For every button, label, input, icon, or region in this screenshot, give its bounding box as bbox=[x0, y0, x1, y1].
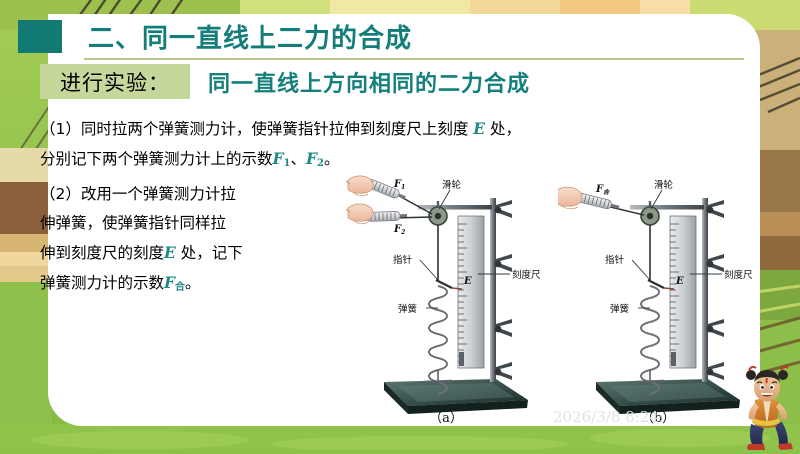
step2-text-e: 弹簧测力计的示数 bbox=[40, 274, 164, 292]
hand-icon-1 bbox=[346, 176, 373, 196]
slide-heading-row: 二、同一直线上二力的合成 bbox=[48, 22, 760, 62]
scale-ruler bbox=[670, 216, 696, 368]
figure-b-label-pointer: 指针 bbox=[605, 254, 625, 266]
figure-b-label-ruler: 刻度尺 bbox=[724, 269, 753, 281]
nezha-character-illustration bbox=[737, 366, 799, 450]
step2-text-b: 伸弹簧，使弹簧指针同样拉 bbox=[40, 214, 226, 232]
experiment-figures: F1 F2 滑轮 指针 弹簧 刻度尺 E （a） bbox=[346, 174, 766, 424]
content-card: 二、同一直线上二力的合成 进行实验： 同一直线上方向相同的二力合成 （1）同时拉… bbox=[48, 14, 760, 426]
pulley bbox=[641, 201, 659, 225]
figure-b-label-spring: 弹簧 bbox=[610, 303, 630, 315]
figure-a-label-ruler: 刻度尺 bbox=[512, 269, 541, 281]
step1-text-c: 分别记下两个弹簧测力计上的示数 bbox=[40, 150, 273, 168]
stand-rod bbox=[702, 198, 708, 382]
scale-ruler bbox=[458, 216, 484, 368]
step2-text-c: 伸到刻度尺的刻度 bbox=[40, 244, 164, 262]
step1-text-a: （1）同时拉两个弹簧测力计，使弹簧指针拉伸到刻度尺上刻度 bbox=[40, 120, 473, 138]
figure-a-label-pulley: 滑轮 bbox=[442, 179, 462, 191]
step2-symbol-F-sub: 合 bbox=[175, 282, 185, 293]
figure-a-caption: （a） bbox=[346, 407, 546, 426]
stand-arm bbox=[630, 205, 704, 210]
figure-a-label-e: E bbox=[463, 276, 472, 287]
experiment-subtitle: 同一直线上方向相同的二力合成 bbox=[208, 66, 530, 98]
figure-a: F1 F2 滑轮 指针 弹簧 刻度尺 E （a） bbox=[346, 174, 546, 424]
step1-symbol-F2: F bbox=[306, 149, 317, 168]
figure-b-label-f-total: F合 bbox=[595, 184, 610, 196]
step1-symbol-E: E bbox=[473, 119, 485, 138]
subheading-row: 进行实验： 同一直线上方向相同的二力合成 bbox=[48, 64, 760, 102]
step2-symbol-E: E bbox=[164, 243, 176, 262]
figure-b-label-pulley: 滑轮 bbox=[654, 179, 674, 191]
step2-text-f: 。 bbox=[185, 274, 201, 292]
figure-b: F合 滑轮 指针 弹簧 刻度尺 E （b） bbox=[558, 174, 758, 424]
figure-a-label-pointer: 指针 bbox=[393, 254, 413, 266]
stand-rod bbox=[490, 198, 496, 382]
step2-symbol-F: F bbox=[164, 273, 175, 292]
hand-icon bbox=[558, 187, 582, 209]
step1-text-b: 处， bbox=[485, 120, 521, 138]
figure-a-label-spring: 弹簧 bbox=[398, 303, 418, 315]
experiment-label-box: 进行实验： bbox=[40, 64, 190, 99]
stand-arm bbox=[418, 205, 492, 210]
step2-text-d: 处，记下 bbox=[176, 244, 243, 262]
step1-text-e: 。 bbox=[324, 150, 340, 168]
timestamp-watermark: 2026/3/8 8:24: bbox=[553, 408, 664, 426]
step1-symbol-F2-sub: 2 bbox=[317, 158, 324, 169]
step1-text-d: 、 bbox=[291, 150, 307, 168]
rod-clamps bbox=[495, 200, 512, 380]
page-title: 二、同一直线上二力的合成 bbox=[88, 18, 412, 55]
heading-divider bbox=[84, 58, 744, 60]
step1-symbol-F1-sub: 1 bbox=[284, 158, 291, 169]
figure-b-label-e: E bbox=[675, 276, 684, 287]
step1-symbol-F1: F bbox=[273, 149, 284, 168]
step-one-paragraph: （1）同时拉两个弹簧测力计，使弹簧指针拉伸到刻度尺上刻度 E 处， 分别记下两个… bbox=[40, 114, 740, 178]
heading-square-bullet bbox=[18, 20, 62, 53]
step2-text-a: （2）改用一个弹簧测力计拉 bbox=[40, 185, 236, 203]
pulley bbox=[429, 201, 447, 225]
spring bbox=[424, 286, 452, 394]
step-two-paragraph: （2）改用一个弹簧测力计拉 伸弹簧，使弹簧指针同样拉 伸到刻度尺的刻度E 处，记… bbox=[40, 180, 340, 302]
spring bbox=[636, 286, 664, 394]
rod-clamps bbox=[707, 200, 724, 380]
figure-a-label-f1: F1 bbox=[393, 179, 405, 191]
figure-a-label-f2: F2 bbox=[393, 224, 405, 236]
